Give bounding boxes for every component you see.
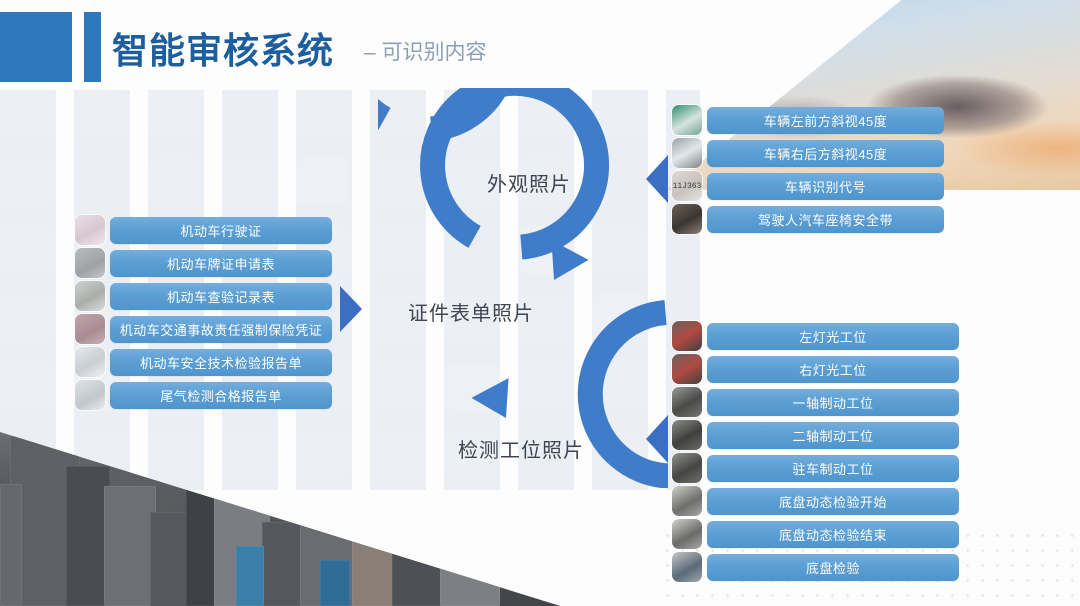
item-label: 驻车制动工位 xyxy=(792,459,873,478)
item-pill[interactable]: 机动车牌证申请表 xyxy=(110,250,332,277)
item-pill[interactable]: 驾驶人汽车座椅安全带 xyxy=(707,206,944,233)
doc-driving-license-thumb[interactable] xyxy=(75,215,105,245)
list-item[interactable]: 机动车牌证申请表 xyxy=(75,248,332,278)
item-pill[interactable]: 驻车制动工位 xyxy=(707,455,959,482)
vin-thumb-text: 11J363 xyxy=(673,182,702,191)
list-item[interactable]: 左灯光工位 xyxy=(672,321,959,351)
list-item[interactable]: 驾驶人汽车座椅安全带 xyxy=(672,204,944,234)
watermark-cell xyxy=(0,158,54,206)
watermark-cell xyxy=(74,90,128,138)
list-item[interactable]: 底盘动态检验结束 xyxy=(672,519,959,549)
item-pill[interactable]: 机动车安全技术检验报告单 xyxy=(110,349,332,376)
item-pill[interactable]: 底盘动态检验开始 xyxy=(707,488,959,515)
page-subtitle: – 可识别内容 xyxy=(364,36,487,66)
item-label: 车辆右后方斜视45度 xyxy=(764,144,887,163)
building-block xyxy=(10,436,80,606)
station-axle2-brake-thumb[interactable] xyxy=(672,420,702,450)
watermark-cell xyxy=(222,430,276,478)
watermark-cell xyxy=(0,226,54,274)
watermark-cell xyxy=(296,90,350,138)
station-axle1-brake-thumb[interactable] xyxy=(672,387,702,417)
station-chassis-inspection-thumb[interactable] xyxy=(672,552,702,582)
watermark-cell xyxy=(222,158,276,206)
photo-seatbelt-thumb[interactable] xyxy=(672,204,702,234)
list-item[interactable]: 机动车交通事故责任强制保险凭证 xyxy=(75,314,332,344)
item-label: 机动车交通事故责任强制保险凭证 xyxy=(120,320,323,339)
watermark-cell xyxy=(296,430,350,478)
watermark-cell xyxy=(148,430,202,478)
ring-label-exterior: 外观照片 xyxy=(487,168,571,197)
building-block xyxy=(320,560,350,606)
building-block xyxy=(236,546,264,606)
item-label: 一轴制动工位 xyxy=(792,393,873,412)
item-label: 机动车查验记录表 xyxy=(167,287,275,306)
list-item[interactable]: 机动车查验记录表 xyxy=(75,281,332,311)
arrow-left-stations xyxy=(646,415,668,463)
building-block xyxy=(214,498,270,606)
item-pill[interactable]: 底盘检验 xyxy=(707,554,959,581)
item-pill[interactable]: 底盘动态检验结束 xyxy=(707,521,959,548)
building-block xyxy=(0,484,22,606)
photo-rear-right-45-thumb[interactable] xyxy=(672,138,702,168)
station-chassis-dynamic-end-thumb[interactable] xyxy=(672,519,702,549)
building-block xyxy=(66,466,110,606)
watermark-cell xyxy=(0,90,54,138)
station-chassis-dynamic-start-thumb[interactable] xyxy=(672,486,702,516)
doc-safety-tech-report-thumb[interactable] xyxy=(75,347,105,377)
header-accent-square xyxy=(0,12,72,82)
photo-vin-thumb[interactable]: 11J363 xyxy=(672,171,702,201)
ring-label-documents: 证件表单照片 xyxy=(408,297,534,326)
building-block xyxy=(392,548,444,606)
arrow-right-to-rings xyxy=(340,286,362,332)
list-item[interactable]: 底盘检验 xyxy=(672,552,959,582)
item-pill[interactable]: 车辆右后方斜视45度 xyxy=(707,140,944,167)
item-label: 二轴制动工位 xyxy=(792,426,873,445)
ring-documents xyxy=(378,88,535,428)
item-label: 底盘检验 xyxy=(806,558,860,577)
item-label: 左灯光工位 xyxy=(799,327,867,346)
list-item[interactable]: 二轴制动工位 xyxy=(672,420,959,450)
list-item[interactable]: 底盘动态检验开始 xyxy=(672,486,959,516)
item-label: 底盘动态检验开始 xyxy=(779,492,887,511)
list-item[interactable]: 机动车安全技术检验报告单 xyxy=(75,347,332,377)
slide-canvas: 智能审核系统 – 可识别内容 外观照片 证件表单照片 检测工位照片 机动车行驶证… xyxy=(0,0,1080,606)
item-pill[interactable]: 机动车行驶证 xyxy=(110,217,332,244)
building-block xyxy=(440,554,500,606)
station-left-headlamp-thumb[interactable] xyxy=(672,321,702,351)
building-block xyxy=(352,534,396,606)
list-item[interactable]: 尾气检测合格报告单 xyxy=(75,380,332,410)
building-block xyxy=(262,522,308,606)
station-right-headlamp-thumb[interactable] xyxy=(672,354,702,384)
item-label: 底盘动态检验结束 xyxy=(779,525,887,544)
item-pill[interactable]: 二轴制动工位 xyxy=(707,422,959,449)
building-block xyxy=(186,466,220,606)
watermark-cell xyxy=(148,158,202,206)
list-item[interactable]: 车辆左前方斜视45度 xyxy=(672,105,944,135)
list-item[interactable]: 车辆右后方斜视45度 xyxy=(672,138,944,168)
item-label: 车辆左前方斜视45度 xyxy=(764,111,887,130)
list-item[interactable]: 一轴制动工位 xyxy=(672,387,959,417)
item-label: 右灯光工位 xyxy=(799,360,867,379)
item-label: 机动车牌证申请表 xyxy=(167,254,275,273)
list-item[interactable]: 机动车行驶证 xyxy=(75,215,332,245)
watermark-cell xyxy=(148,90,202,138)
page-title: 智能审核系统 xyxy=(112,22,334,74)
list-item[interactable]: 驻车制动工位 xyxy=(672,453,959,483)
building-block xyxy=(104,486,156,606)
item-pill[interactable]: 车辆左前方斜视45度 xyxy=(707,107,944,134)
item-pill[interactable]: 左灯光工位 xyxy=(707,323,959,350)
list-item[interactable]: 右灯光工位 xyxy=(672,354,959,384)
header-accent-bar xyxy=(84,12,101,82)
photo-front-left-45-thumb[interactable] xyxy=(672,105,702,135)
station-parking-brake-thumb[interactable] xyxy=(672,453,702,483)
item-label: 机动车安全技术检验报告单 xyxy=(140,353,302,372)
item-pill[interactable]: 一轴制动工位 xyxy=(707,389,959,416)
doc-inspection-record-thumb[interactable] xyxy=(75,281,105,311)
watermark-cell xyxy=(0,294,54,342)
item-pill[interactable]: 车辆识别代号 xyxy=(707,173,944,200)
doc-compulsory-insurance-thumb[interactable] xyxy=(75,314,105,344)
item-pill[interactable]: 机动车查验记录表 xyxy=(110,283,332,310)
process-rings-diagram xyxy=(378,88,668,488)
item-pill[interactable]: 机动车交通事故责任强制保险凭证 xyxy=(110,316,332,343)
ring-label-stations: 检测工位照片 xyxy=(458,434,584,463)
doc-emission-report-thumb[interactable] xyxy=(75,380,105,410)
item-label: 机动车行驶证 xyxy=(180,221,261,240)
arrow-left-exterior xyxy=(646,155,668,203)
item-label: 尾气检测合格报告单 xyxy=(160,386,282,405)
item-label: 车辆识别代号 xyxy=(785,177,866,196)
doc-plate-application-thumb[interactable] xyxy=(75,248,105,278)
building-block xyxy=(300,506,360,606)
item-label: 驾驶人汽车座椅安全带 xyxy=(758,210,893,229)
watermark-cell xyxy=(296,158,350,206)
building-block xyxy=(150,512,190,606)
list-item[interactable]: 11J363车辆识别代号 xyxy=(672,171,944,201)
watermark-cell xyxy=(0,362,54,410)
watermark-cell xyxy=(74,430,128,478)
item-pill[interactable]: 右灯光工位 xyxy=(707,356,959,383)
item-pill[interactable]: 尾气检测合格报告单 xyxy=(110,382,332,409)
